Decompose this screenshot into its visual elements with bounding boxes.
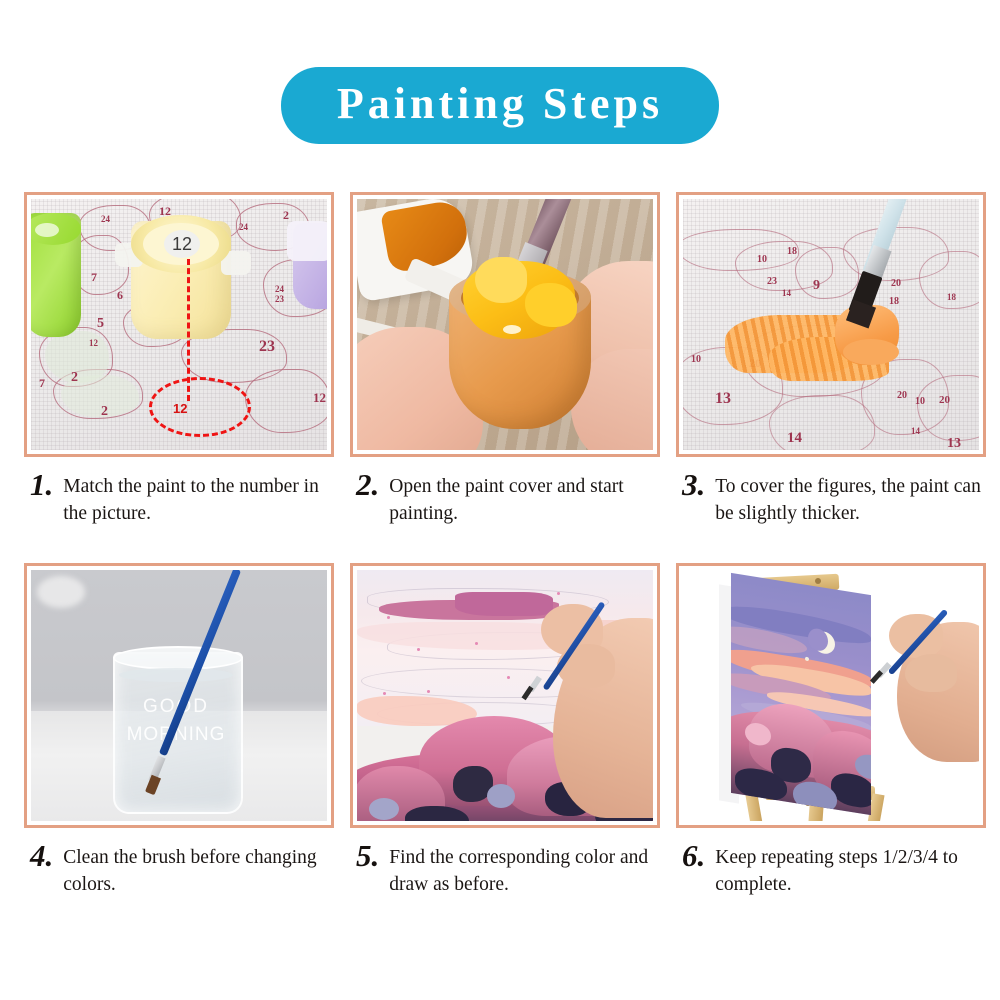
step-1-text: Match the paint to the number in the pic…: [63, 470, 334, 527]
step-1-number: 1.: [30, 470, 63, 500]
step-card-2: 2. Open the paint cover and start painti…: [350, 192, 660, 527]
step-2-number: 2.: [356, 470, 389, 500]
step-card-6: 6. Keep repeating steps 1/2/3/4 to compl…: [676, 563, 986, 898]
paint-pot-number-match-photo: 12 2 24 24 7 6 5 12 2 7 2 23 24 23 12: [31, 199, 327, 450]
step-2-image-frame: [350, 192, 660, 457]
pot-number-label: 12: [172, 234, 192, 255]
step-5-text: Find the corresponding color and draw as…: [389, 841, 660, 898]
rinse-brush-in-water-photo: GOOD MORNING: [31, 570, 327, 821]
step-2-text: Open the paint cover and start painting.: [389, 470, 660, 527]
step-5-caption: 5. Find the corresponding color and draw…: [350, 841, 660, 898]
step-6-image-frame: [676, 563, 986, 828]
step-3-text: To cover the figures, the paint can be s…: [715, 470, 986, 527]
step-4-text: Clean the brush before changing colors.: [63, 841, 334, 898]
step-card-1: 12 2 24 24 7 6 5 12 2 7 2 23 24 23 12: [24, 192, 334, 527]
step-6-text: Keep repeating steps 1/2/3/4 to complete…: [715, 841, 986, 898]
step-card-3: 10 18 23 14 9 20 18 18 10 20 13 20 10 20…: [676, 192, 986, 527]
step-6-caption: 6. Keep repeating steps 1/2/3/4 to compl…: [676, 841, 986, 898]
step-4-number: 4.: [30, 841, 63, 871]
step-1-image-frame: 12 2 24 24 7 6 5 12 2 7 2 23 24 23 12: [24, 192, 334, 457]
match-target-label: 12: [173, 401, 187, 416]
step-3-image-frame: 10 18 23 14 9 20 18 18 10 20 13 20 10 20…: [676, 192, 986, 457]
step-3-caption: 3. To cover the figures, the paint can b…: [676, 470, 986, 527]
painting-in-progress-photo: [357, 570, 653, 821]
finished-painting-on-easel-photo: [683, 570, 979, 821]
brush-stroke-on-canvas-photo: 10 18 23 14 9 20 18 18 10 20 13 20 10 20…: [683, 199, 979, 450]
page-header: Painting Steps: [0, 67, 1000, 144]
step-2-caption: 2. Open the paint cover and start painti…: [350, 470, 660, 527]
title-banner: Painting Steps: [281, 67, 719, 144]
step-4-caption: 4. Clean the brush before changing color…: [24, 841, 334, 898]
step-card-5: 5. Find the corresponding color and draw…: [350, 563, 660, 898]
step-1-caption: 1. Match the paint to the number in the …: [24, 470, 334, 527]
page-title: Painting Steps: [335, 81, 665, 127]
step-card-4: GOOD MORNING 4. Clean the brush before c…: [24, 563, 334, 898]
steps-grid: 12 2 24 24 7 6 5 12 2 7 2 23 24 23 12: [24, 192, 986, 898]
match-target-circle: [149, 377, 251, 437]
step-4-image-frame: GOOD MORNING: [24, 563, 334, 828]
step-5-image-frame: [350, 563, 660, 828]
step-5-number: 5.: [356, 841, 389, 871]
open-paint-pot-photo: [357, 199, 653, 450]
step-3-number: 3.: [682, 470, 715, 500]
step-6-number: 6.: [682, 841, 715, 871]
